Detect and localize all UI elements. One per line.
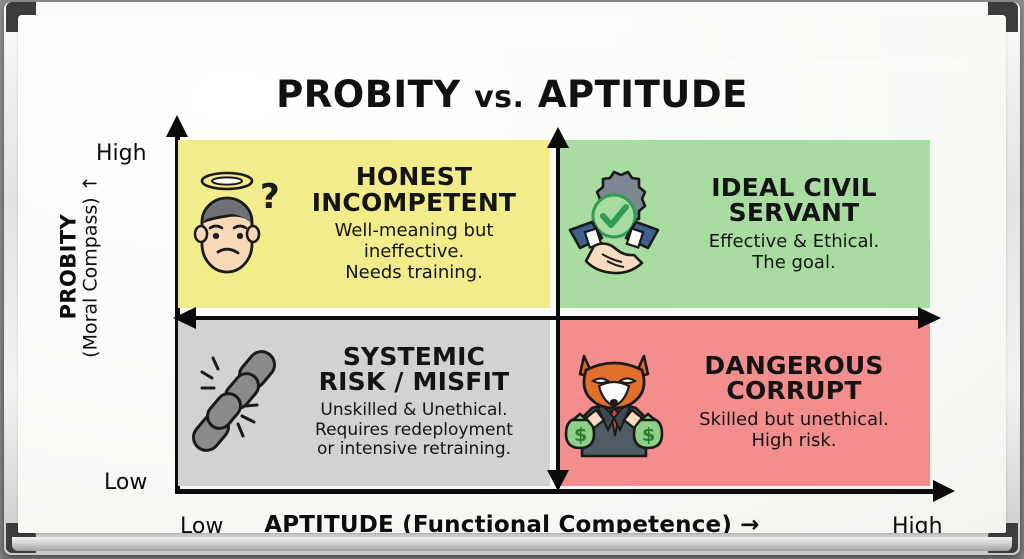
quadrant-desc-line3: or intensive retraining. bbox=[288, 440, 540, 460]
page-title: PROBITY vs. APTITUDE bbox=[18, 73, 1006, 116]
quadrant-desc-line1: Well-meaning but ineffective. bbox=[288, 221, 540, 263]
y-axis-title: PROBITY (Moral Compass) ↑ bbox=[57, 142, 100, 392]
aptitude-divider-arrow-down-icon bbox=[547, 470, 569, 491]
quadrant-desc-line1: Unskilled & Unethical. bbox=[288, 401, 540, 421]
y-axis-title-sub: (Moral Compass) ↑ bbox=[80, 142, 101, 392]
svg-text:?: ? bbox=[260, 177, 280, 217]
quadrant-text-dangerous-corrupt: DANGEROUS CORRUPT Skilled but unethical.… bbox=[668, 353, 924, 452]
quadrant-desc-line1: Effective & Ethical. bbox=[668, 232, 920, 253]
title-secondary: APTITUDE bbox=[538, 73, 748, 116]
x-axis-high-label: High bbox=[892, 514, 943, 533]
whiteboard-container: PROBITY vs. APTITUDE bbox=[0, 0, 1024, 559]
handshake-gear-check-icon bbox=[562, 164, 666, 284]
y-axis-arrowhead-icon bbox=[166, 115, 188, 137]
probity-divider-arrow-left-icon bbox=[173, 307, 196, 329]
y-axis-low-label: Low bbox=[104, 470, 147, 495]
quadrant-ideal-civil-servant[interactable]: IDEAL CIVIL SERVANT Effective & Ethical.… bbox=[558, 140, 930, 308]
whiteboard-frame: PROBITY vs. APTITUDE bbox=[4, 2, 1020, 555]
quadrant-text-systemic-risk-misfit: SYSTEMIC RISK / MISFIT Unskilled & Uneth… bbox=[288, 344, 544, 460]
probity-divider-arrow-right-icon bbox=[918, 307, 941, 329]
marker-tray bbox=[12, 537, 1012, 551]
quadrant-heading-line2: CORRUPT bbox=[668, 378, 920, 404]
quadrant-systemic-risk-misfit[interactable]: SYSTEMIC RISK / MISFIT Unskilled & Uneth… bbox=[178, 318, 550, 486]
quadrant-heading-line1: HONEST bbox=[288, 164, 540, 190]
aptitude-divider-arrow-up-icon bbox=[547, 127, 569, 148]
fox-in-suit-money-bags-icon: $ $ bbox=[562, 342, 666, 462]
quadrant-text-ideal-civil-servant: IDEAL CIVIL SERVANT Effective & Ethical.… bbox=[668, 175, 924, 274]
quadrant-desc-line2: High risk. bbox=[668, 431, 920, 452]
quadrant-heading-line1: IDEAL CIVIL bbox=[668, 175, 920, 201]
broken-chain-icon bbox=[182, 342, 286, 462]
quadrant-text-honest-incompetent: HONEST INCOMPETENT Well-meaning but inef… bbox=[288, 164, 544, 284]
x-axis-low-label: Low bbox=[180, 514, 223, 533]
y-axis-high-label: High bbox=[96, 141, 147, 166]
quadrant-desc-line1: Skilled but unethical. bbox=[668, 410, 920, 431]
quadrant-heading-line1: SYSTEMIC bbox=[288, 344, 540, 370]
quadrant-dangerous-corrupt[interactable]: $ $ DANGEROUS CORRUPT bbox=[558, 318, 930, 486]
svg-text:$: $ bbox=[642, 424, 655, 446]
quadrant-heading-line2: RISK / MISFIT bbox=[288, 369, 540, 395]
quadrant-desc-line2: The goal. bbox=[668, 253, 920, 274]
aptitude-divider-line bbox=[556, 140, 560, 488]
svg-text:$: $ bbox=[574, 424, 587, 446]
halo-confused-face-icon: ? bbox=[182, 164, 286, 284]
x-axis-title: APTITUDE (Functional Competence) → bbox=[18, 512, 1006, 533]
title-main: PROBITY bbox=[276, 73, 461, 116]
title-connector: vs. bbox=[474, 80, 524, 115]
quadrant-heading-line2: INCOMPETENT bbox=[288, 190, 540, 216]
y-axis-title-main: PROBITY bbox=[57, 142, 80, 392]
quadrant-heading-line1: DANGEROUS bbox=[668, 353, 920, 379]
quadrant-honest-incompetent[interactable]: ? HONEST INCOMPETENT Well-meaning but in… bbox=[178, 140, 550, 308]
quadrant-diagram: PROBITY vs. APTITUDE bbox=[18, 15, 1006, 533]
whiteboard-surface: PROBITY vs. APTITUDE bbox=[18, 15, 1006, 533]
quadrant-heading-line2: SERVANT bbox=[668, 200, 920, 226]
quadrant-desc-line2: Requires redeployment bbox=[288, 421, 540, 441]
quadrant-desc-line2: Needs training. bbox=[288, 263, 540, 284]
